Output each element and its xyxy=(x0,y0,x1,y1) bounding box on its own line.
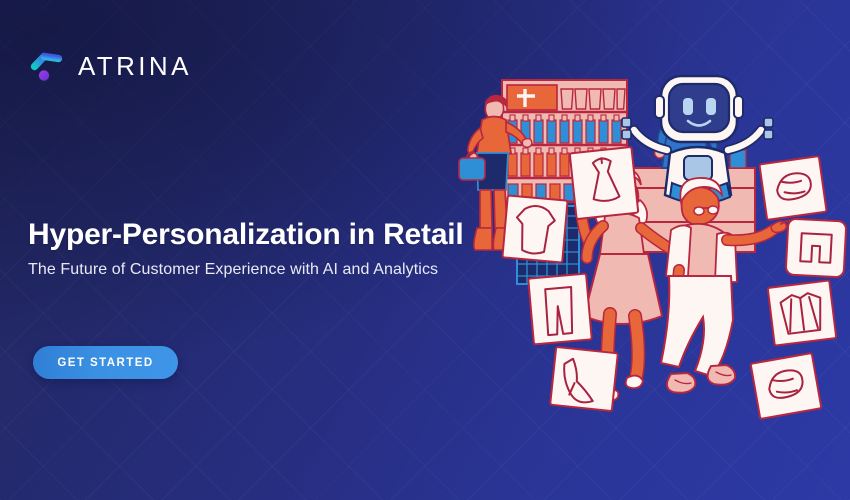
product-card-heel xyxy=(550,347,618,411)
product-card-striped-shirt xyxy=(768,280,837,345)
get-started-button[interactable]: GET STARTED xyxy=(33,346,178,379)
product-card-dress xyxy=(570,147,639,219)
product-card-shoe-top xyxy=(759,156,826,220)
retail-personalization-illustration: .o{fill:#e8673a}.p{fill:#f0b9b2}.w{fill:… xyxy=(455,58,850,458)
hero-banner: ATRINA Hyper-Personalization in Retail T… xyxy=(0,0,850,500)
brand-wordmark: ATRINA xyxy=(78,53,192,79)
product-card-top xyxy=(502,196,567,263)
product-card-shoe-bottom xyxy=(751,353,822,419)
page-subtitle: The Future of Customer Experience with A… xyxy=(28,260,438,281)
product-card-shorts xyxy=(786,219,847,278)
atrina-chevron-dot-logo-icon xyxy=(28,46,68,86)
brand-logo[interactable]: ATRINA xyxy=(28,46,192,86)
product-card-trousers xyxy=(528,274,592,345)
page-title: Hyper-Personalization in Retail xyxy=(28,218,464,252)
